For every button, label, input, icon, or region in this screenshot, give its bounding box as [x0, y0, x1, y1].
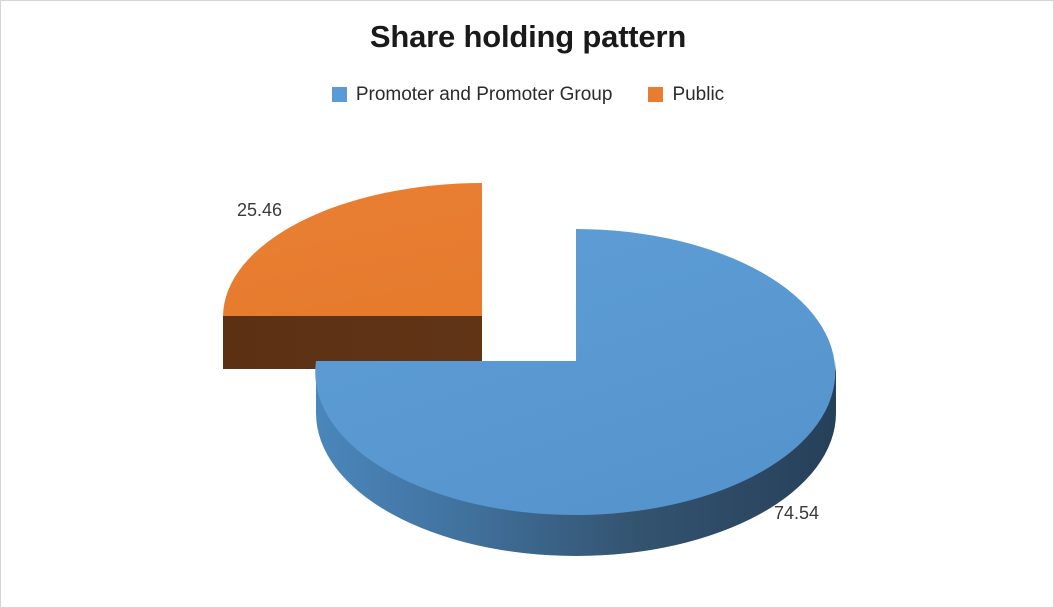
data-label-promoter: 74.54	[774, 503, 819, 524]
pie-chart-svg	[1, 1, 1054, 608]
pie-plot-area	[1, 1, 1054, 608]
chart-canvas: Share holding pattern Promoter and Promo…	[0, 0, 1054, 608]
pie-slice-promoter-radial-edge	[576, 229, 577, 361]
data-label-public: 25.46	[237, 200, 282, 221]
